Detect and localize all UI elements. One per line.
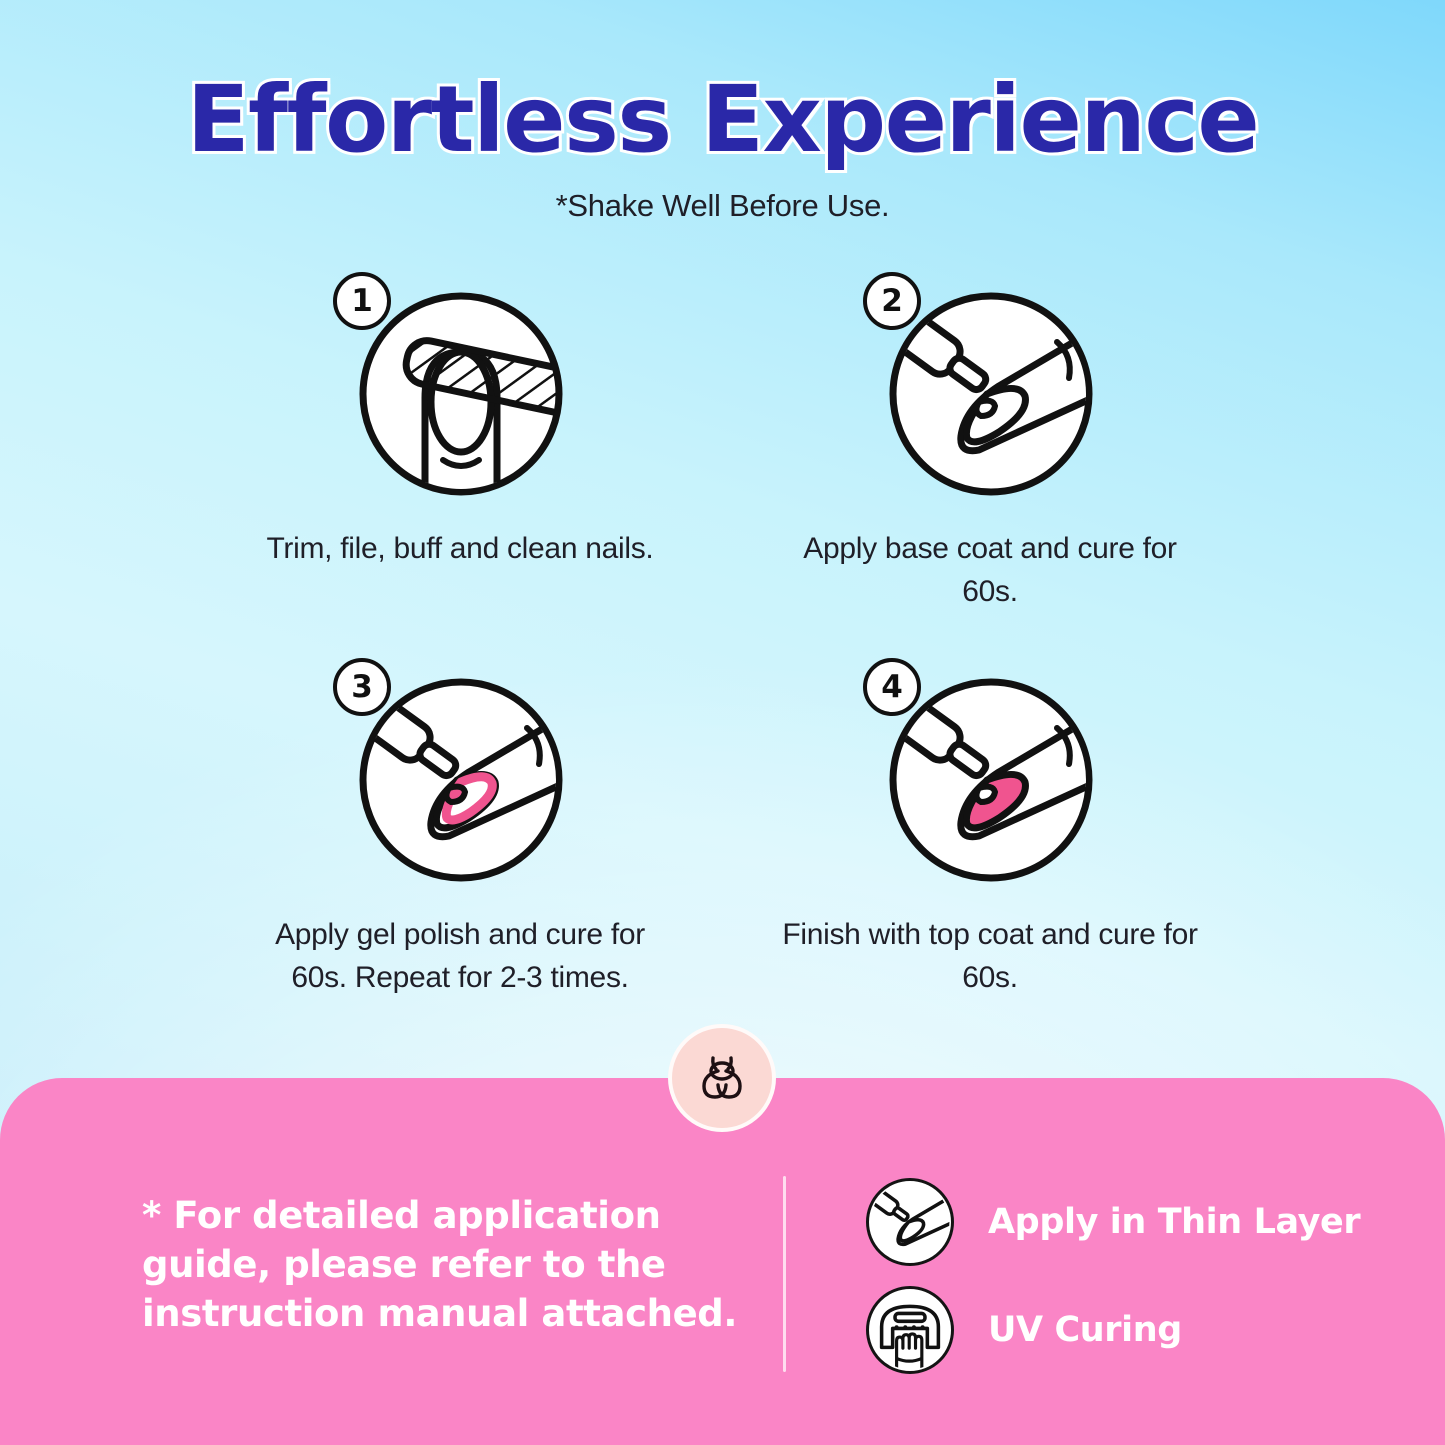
step-1-number-badge: 1	[333, 272, 391, 330]
feature-uv-curing: UV Curing	[866, 1286, 1336, 1374]
steps-row-bottom: 3	[195, 658, 1255, 999]
footer-note: * For detailed application guide, please…	[142, 1192, 742, 1338]
step-4: 4 Fi	[725, 658, 1255, 999]
step-2: 2	[725, 272, 1255, 613]
page-title: Effortless Experience	[0, 74, 1445, 166]
thin-layer-brush-icon	[866, 1178, 954, 1266]
step-2-caption: Apply base coat and cure for 60s.	[775, 528, 1205, 613]
step-1: 1	[195, 272, 725, 613]
step-2-art-wrap: 2	[855, 272, 1125, 504]
step-4-art-wrap: 4	[855, 658, 1125, 890]
step-3: 3	[195, 658, 725, 999]
feature-list: Apply in Thin Layer	[866, 1178, 1336, 1394]
step-2-number-badge: 2	[863, 272, 921, 330]
steps-grid: 1	[195, 272, 1255, 999]
header: Effortless Experience *Shake Well Before…	[0, 0, 1445, 224]
step-3-caption: Apply gel polish and cure for 60s. Repea…	[245, 914, 675, 999]
step-4-caption: Finish with top coat and cure for 60s.	[775, 914, 1205, 999]
feature-uv-curing-label: UV Curing	[988, 1310, 1182, 1350]
bee-logo-icon	[691, 1047, 753, 1109]
feature-thin-layer: Apply in Thin Layer	[866, 1178, 1336, 1266]
step-1-caption: Trim, file, buff and clean nails.	[245, 528, 675, 571]
footer-divider	[783, 1176, 786, 1372]
step-1-art-wrap: 1	[325, 272, 595, 504]
step-3-art-wrap: 3	[325, 658, 595, 890]
page-subtitle: *Shake Well Before Use.	[0, 188, 1445, 224]
top-coat-brush-icon	[887, 676, 1095, 884]
base-coat-brush-icon	[887, 290, 1095, 498]
uv-lamp-icon	[866, 1286, 954, 1374]
steps-row-top: 1	[195, 272, 1255, 613]
step-4-number-badge: 4	[863, 658, 921, 716]
feature-thin-layer-label: Apply in Thin Layer	[988, 1202, 1360, 1242]
step-3-number-badge: 3	[333, 658, 391, 716]
brand-logo-badge	[668, 1024, 776, 1132]
gel-polish-brush-icon	[357, 676, 565, 884]
nail-file-icon	[357, 290, 565, 498]
